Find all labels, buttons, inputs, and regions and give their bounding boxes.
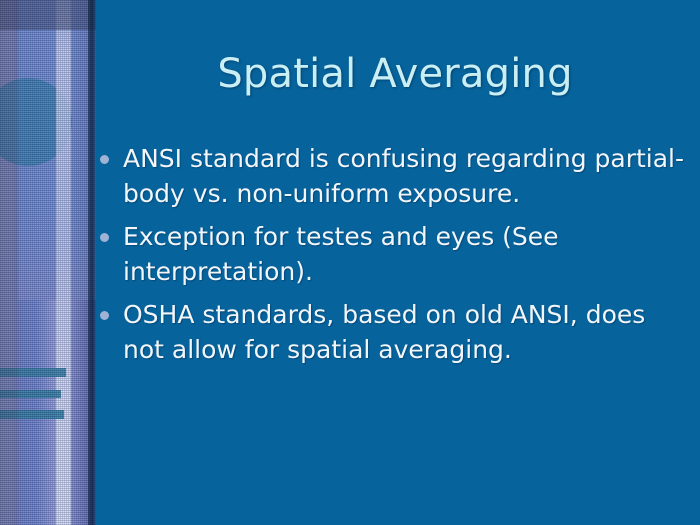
bullet-dot-icon (100, 311, 109, 320)
bullet-dot-icon (100, 155, 109, 164)
sidebar-fabric-texture (0, 0, 96, 525)
bullet-text: ANSI standard is confusing regarding par… (123, 142, 688, 211)
bullet-text: OSHA standards, based on old ANSI, does … (123, 298, 688, 367)
slide-body-content: ANSI standard is confusing regarding par… (100, 142, 688, 376)
bullet-item: ANSI standard is confusing regarding par… (100, 142, 688, 211)
sidebar-right-edge-shadow (88, 0, 96, 525)
slide-title: Spatial Averaging (110, 52, 680, 96)
bullet-dot-icon (100, 233, 109, 242)
bullet-item: OSHA standards, based on old ANSI, does … (100, 298, 688, 367)
bullet-text: Exception for testes and eyes (See inter… (123, 220, 688, 289)
bullet-item: Exception for testes and eyes (See inter… (100, 220, 688, 289)
presentation-slide: Spatial Averaging ANSI standard is confu… (0, 0, 700, 525)
slide-sidebar-decoration (0, 0, 96, 525)
